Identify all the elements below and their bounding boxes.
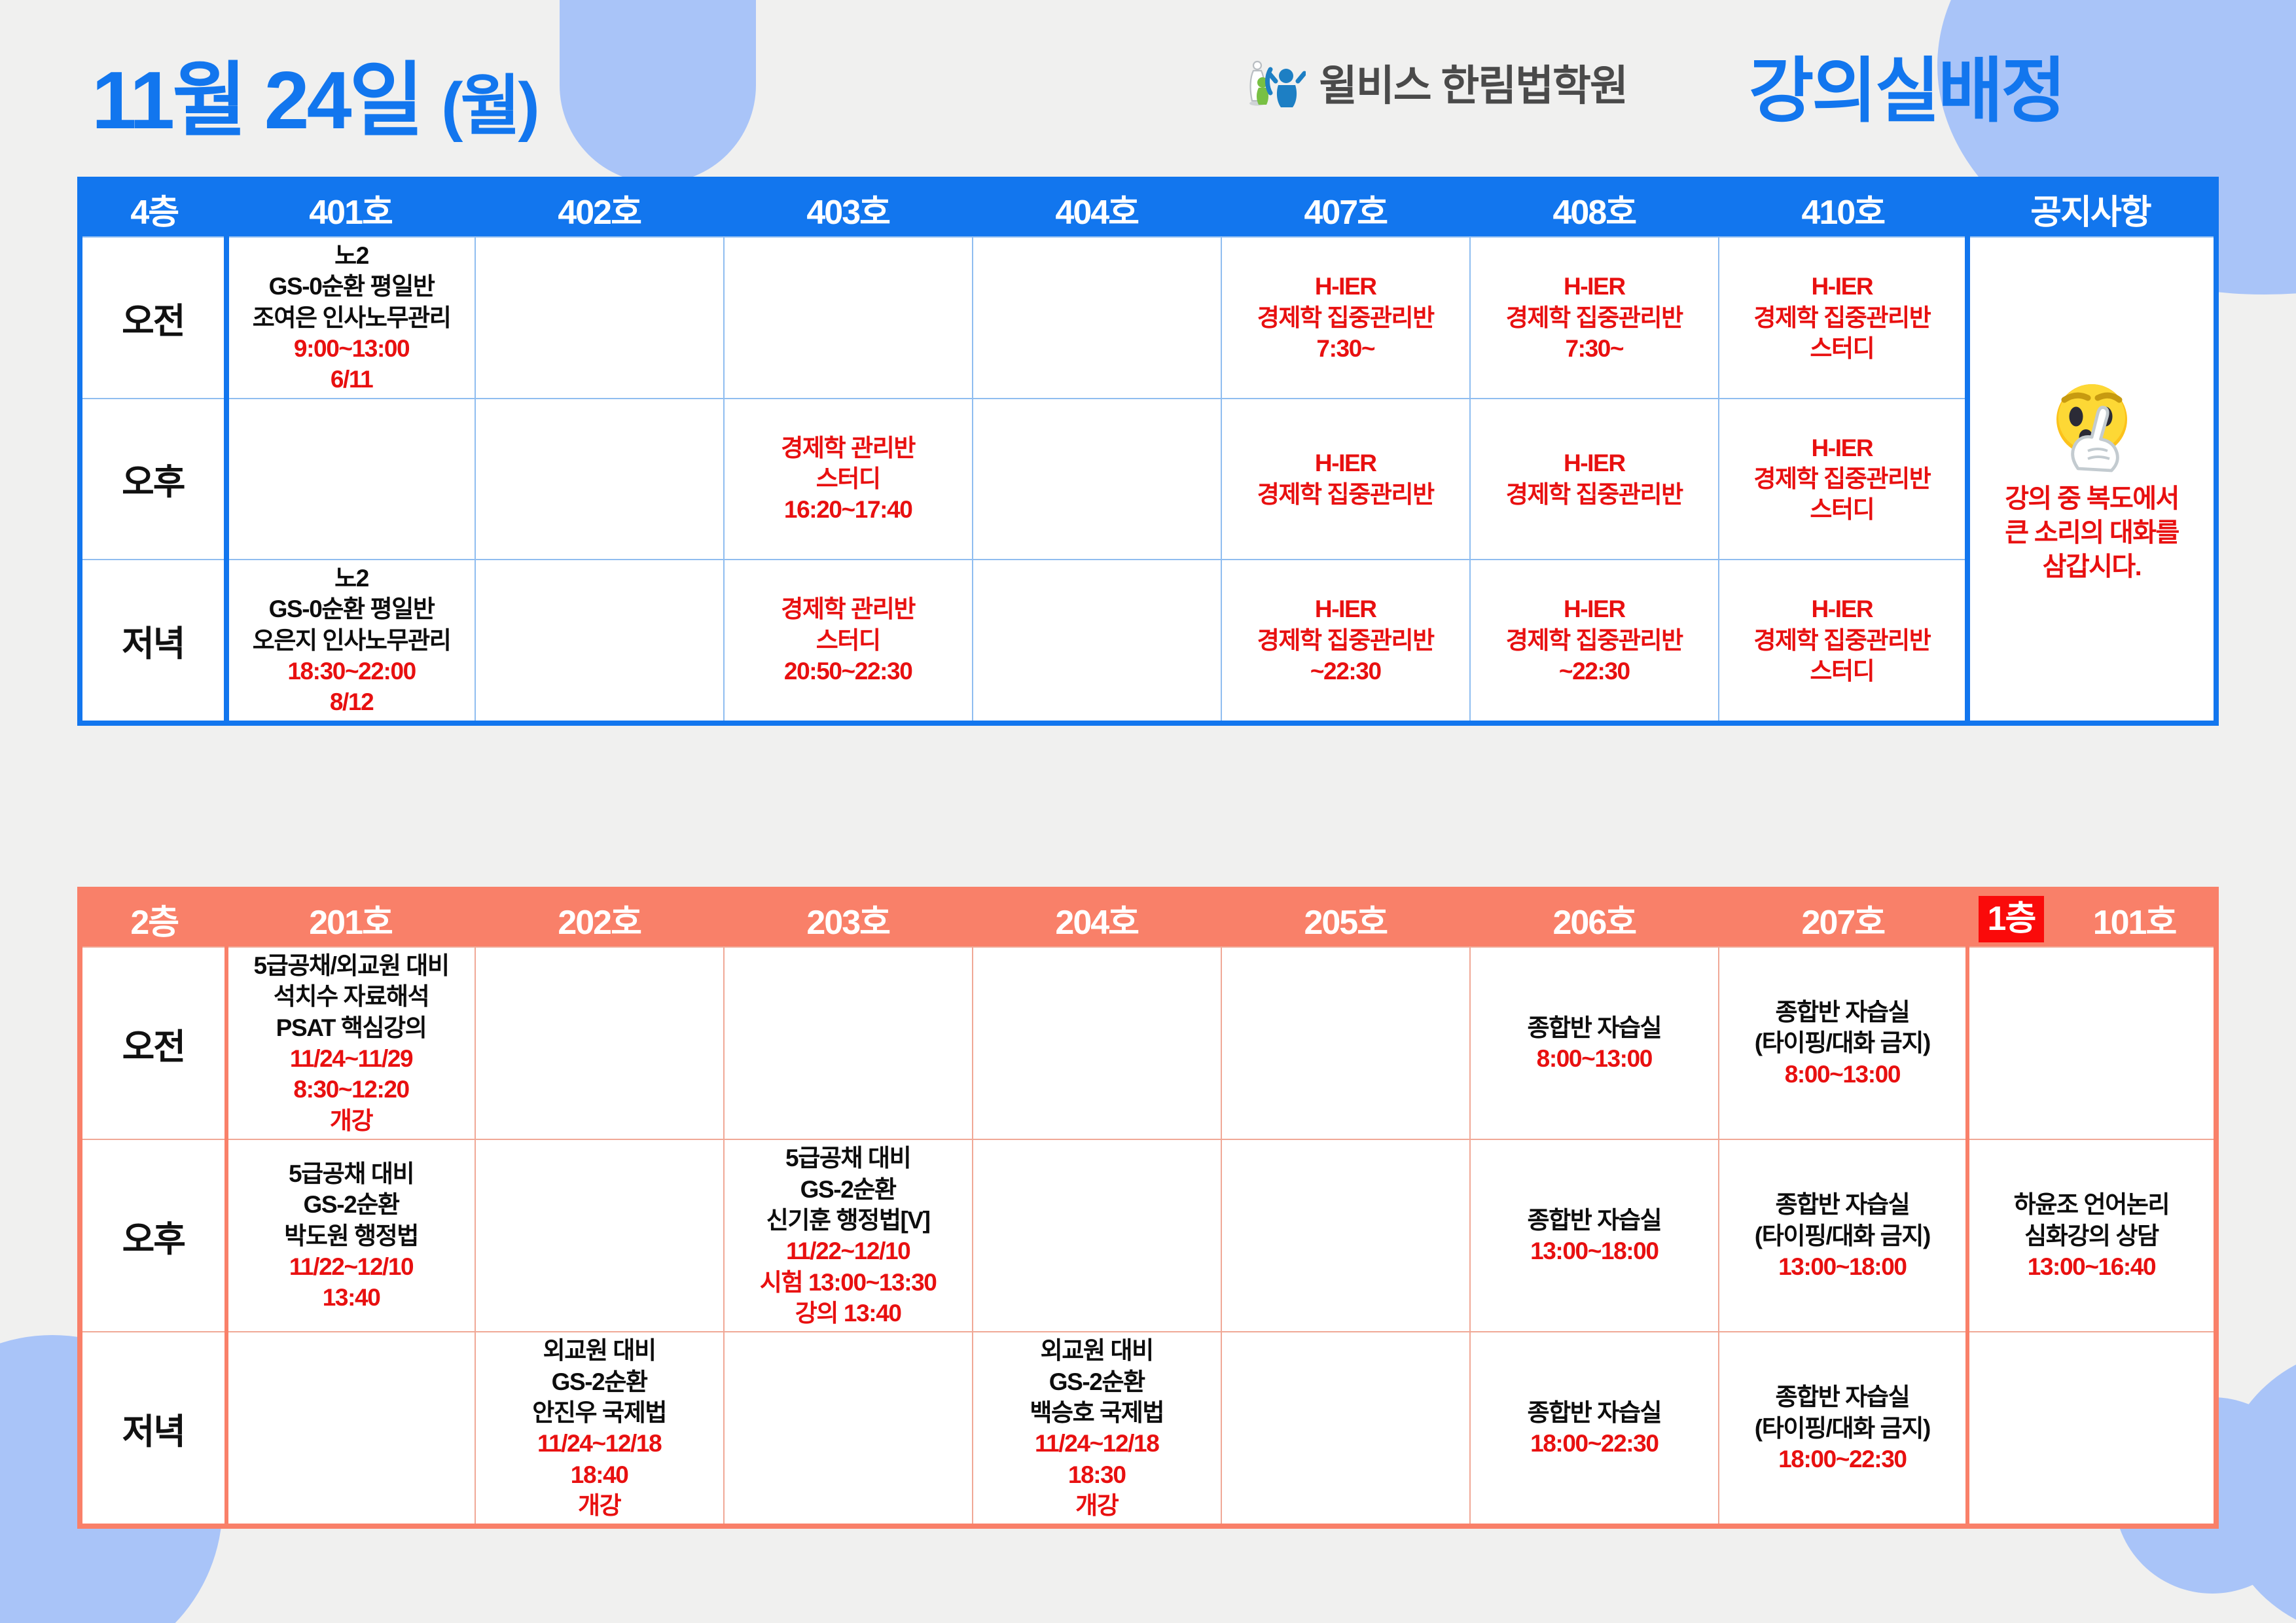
- cell-line: 13:00~18:00: [1475, 1236, 1714, 1266]
- header-room-404: 404호: [973, 179, 1221, 237]
- cell-content: 종합반 자습실13:00~18:00: [1475, 1205, 1714, 1267]
- cell-content: H-IER경제학 집중관리반7:30~: [1226, 271, 1465, 364]
- page-title: 강의실배정: [1749, 34, 2064, 136]
- schedule-table-4f: 4층 401호 402호 403호 404호 407호 408호 410호 공지…: [77, 177, 2219, 726]
- date-title: 11월 24일 (월): [92, 34, 537, 152]
- header-room-202: 202호: [475, 889, 724, 947]
- cell-line: 노2: [233, 240, 471, 271]
- cell-line: 13:40: [232, 1282, 471, 1313]
- cell-content: H-IER경제학 집중관리반: [1226, 448, 1465, 510]
- cell-line: H-IER: [1475, 448, 1714, 478]
- cell-line: H-IER: [1475, 594, 1714, 624]
- cell-4f-401-저녁[interactable]: 노2GS-0순환 평일반오은지 인사노무관리18:30~22:008/12: [226, 560, 475, 723]
- cell-4f-404-저녁[interactable]: [973, 560, 1221, 723]
- cell-2f-206-저녁[interactable]: 종합반 자습실18:00~22:30: [1470, 1332, 1719, 1526]
- cell-line: 종합반 자습실: [1723, 997, 1962, 1027]
- cell-line: 경제학 관리반: [728, 433, 968, 463]
- cell-2f-207-오전[interactable]: 종합반 자습실(타이핑/대화 금지)8:00~13:00: [1719, 947, 1967, 1139]
- cell-line: GS-2순환: [728, 1174, 968, 1205]
- cell-content: H-IER경제학 집중관리반~22:30: [1226, 594, 1465, 687]
- table-4f-header-row: 4층 401호 402호 403호 404호 407호 408호 410호 공지…: [80, 179, 2216, 237]
- cell-line: H-IER: [1723, 271, 1961, 302]
- cell-line: 6/11: [233, 364, 471, 395]
- header-floor-4f: 4층: [80, 179, 226, 237]
- cell-line: 5급공채 대비: [232, 1158, 471, 1189]
- cell-2f-207-저녁[interactable]: 종합반 자습실(타이핑/대화 금지)18:00~22:30: [1719, 1332, 1967, 1526]
- header-room-410: 410호: [1719, 179, 1967, 237]
- cell-2f-202-오전[interactable]: [475, 947, 724, 1139]
- cell-content: 노2GS-0순환 평일반조여은 인사노무관리9:00~13:006/11: [233, 240, 471, 395]
- cell-2f-201-오전[interactable]: 5급공채/외교원 대비석치수 자료해석PSAT 핵심강의11/24~11/298…: [226, 947, 475, 1139]
- cell-2f-205-저녁[interactable]: [1221, 1332, 1470, 1526]
- cell-line: 조여은 인사노무관리: [233, 302, 471, 333]
- cell-line: 경제학 집중관리반: [1723, 463, 1961, 494]
- cell-line: 외교원 대비: [480, 1335, 719, 1366]
- cell-4f-401-오후[interactable]: [226, 399, 475, 560]
- cell-2f-203-저녁[interactable]: [724, 1332, 973, 1526]
- cell-line: 7:30~: [1475, 333, 1714, 364]
- cell-line: 신기훈 행정법[V]: [728, 1205, 968, 1236]
- cell-line: 종합반 자습실: [1723, 1382, 1962, 1412]
- notice-text: 강의 중 복도에서큰 소리의 대화를삼갑시다.: [2005, 482, 2178, 584]
- cell-content: 노2GS-0순환 평일반오은지 인사노무관리18:30~22:008/12: [233, 563, 471, 718]
- cell-line: 종합반 자습실: [1475, 1012, 1714, 1043]
- cell-1f-101-저녁[interactable]: [1967, 1332, 2216, 1526]
- cell-line: 9:00~13:00: [233, 333, 471, 364]
- cell-line: (타이핑/대화 금지): [1723, 1221, 1962, 1251]
- cell-content: H-IER경제학 집중관리반7:30~: [1475, 271, 1714, 364]
- cell-line: H-IER: [1226, 271, 1465, 302]
- cell-2f-204-오후[interactable]: [973, 1139, 1221, 1332]
- cell-line: 18:40: [480, 1459, 719, 1490]
- cell-line: 경제학 집중관리반: [1475, 479, 1714, 510]
- cell-2f-201-오후[interactable]: 5급공채 대비GS-2순환박도원 행정법11/22~12/1013:40: [226, 1139, 475, 1332]
- willbes-people-logo-icon: [1247, 56, 1306, 109]
- cell-line: H-IER: [1723, 594, 1961, 624]
- header-room-207: 207호: [1719, 889, 1967, 947]
- cell-line: 경제학 집중관리반: [1475, 625, 1714, 656]
- cell-4f-401-오전[interactable]: 노2GS-0순환 평일반조여은 인사노무관리9:00~13:006/11: [226, 237, 475, 399]
- cell-line: 종합반 자습실: [1723, 1189, 1962, 1220]
- cell-line: 오은지 인사노무관리: [233, 625, 471, 656]
- cell-line: 경제학 집중관리반: [1475, 302, 1714, 333]
- header-floor-1f-cell: 1층: [1967, 889, 2055, 947]
- cell-line: 안진우 국제법: [480, 1397, 719, 1428]
- cell-4f-408-저녁[interactable]: H-IER경제학 집중관리반~22:30: [1470, 560, 1719, 723]
- cell-line: 강의 13:40: [728, 1298, 968, 1329]
- cell-line: 18:00~22:30: [1475, 1428, 1714, 1459]
- cell-content: 종합반 자습실(타이핑/대화 금지)13:00~18:00: [1723, 1189, 1962, 1282]
- cell-line: 시험 13:00~13:30: [728, 1267, 968, 1298]
- cell-line: 경제학 집중관리반: [1723, 625, 1961, 656]
- cell-2f-203-오전[interactable]: [724, 947, 973, 1139]
- cell-line: 스터디: [728, 463, 968, 494]
- cell-content: 5급공채/외교원 대비석치수 자료해석PSAT 핵심강의11/24~11/298…: [232, 950, 471, 1136]
- cell-line: 경제학 집중관리반: [1723, 302, 1961, 333]
- cell-line: 스터디: [1723, 656, 1961, 687]
- cell-line: 석치수 자료해석: [232, 981, 471, 1012]
- cell-content: 하윤조 언어논리심화강의 상담13:00~16:40: [1973, 1189, 2210, 1282]
- cell-2f-202-저녁[interactable]: 외교원 대비GS-2순환안진우 국제법11/24~12/1818:40개강: [475, 1332, 724, 1526]
- cell-line: 13:00~16:40: [1973, 1251, 2210, 1282]
- cell-line: 노2: [233, 563, 471, 594]
- table-2f-header-row: 2층 201호 202호 203호 204호 205호 206호 207호 1층…: [80, 889, 2216, 947]
- header-room-403: 403호: [724, 179, 973, 237]
- header-room-401: 401호: [226, 179, 475, 237]
- cell-content: 종합반 자습실(타이핑/대화 금지)8:00~13:00: [1723, 997, 1962, 1090]
- notice-line: 삼갑시다.: [2005, 550, 2178, 584]
- cell-content: H-IER경제학 집중관리반~22:30: [1475, 594, 1714, 687]
- brand-name: 윌비스 한림법학원: [1319, 52, 1627, 113]
- floor-1f-badge: 1층: [1979, 896, 2045, 943]
- cell-content: 외교원 대비GS-2순환안진우 국제법11/24~12/1818:40개강: [480, 1335, 719, 1521]
- cell-4f-410-오후[interactable]: H-IER경제학 집중관리반스터디: [1719, 399, 1967, 560]
- cell-line: 11/22~12/10: [728, 1236, 968, 1266]
- cell-line: 경제학 집중관리반: [1226, 625, 1465, 656]
- header-room-204: 204호: [973, 889, 1221, 947]
- header-room-205: 205호: [1221, 889, 1470, 947]
- cell-4f-402-저녁[interactable]: [475, 560, 724, 723]
- cell-line: 11/24~11/29: [232, 1043, 471, 1074]
- cell-4f-403-오전[interactable]: [724, 237, 973, 399]
- cell-content: H-IER경제학 집중관리반스터디: [1723, 594, 1961, 687]
- cell-line: 20:50~22:30: [728, 656, 968, 687]
- cell-4f-408-오전[interactable]: H-IER경제학 집중관리반7:30~: [1470, 237, 1719, 399]
- cell-line: GS-0순환 평일반: [233, 271, 471, 302]
- table-4f-row: 저녁노2GS-0순환 평일반오은지 인사노무관리18:30~22:008/12경…: [80, 560, 2216, 723]
- notice-line: 강의 중 복도에서: [2005, 482, 2178, 516]
- header-room-203: 203호: [724, 889, 973, 947]
- cell-content: 5급공채 대비GS-2순환신기훈 행정법[V]11/22~12/10시험 13:…: [728, 1143, 968, 1329]
- cell-line: 5급공채 대비: [728, 1143, 968, 1173]
- cell-line: (타이핑/대화 금지): [1723, 1027, 1962, 1058]
- cell-line: 5급공채/외교원 대비: [232, 950, 471, 981]
- cell-line: 외교원 대비: [977, 1335, 1217, 1366]
- cell-4f-404-오전[interactable]: [973, 237, 1221, 399]
- cell-4f-403-저녁[interactable]: 경제학 관리반스터디20:50~22:30: [724, 560, 973, 723]
- cell-content: 경제학 관리반스터디16:20~17:40: [728, 433, 968, 526]
- cell-2f-204-저녁[interactable]: 외교원 대비GS-2순환백승호 국제법11/24~12/1818:30개강: [973, 1332, 1221, 1526]
- cell-line: 박도원 행정법: [232, 1221, 471, 1251]
- time-label-오후: 오후: [80, 1139, 226, 1332]
- cell-2f-203-오후[interactable]: 5급공채 대비GS-2순환신기훈 행정법[V]11/22~12/10시험 13:…: [724, 1139, 973, 1332]
- time-label-오후: 오후: [80, 399, 226, 560]
- cell-line: ~22:30: [1226, 656, 1465, 687]
- cell-content: H-IER경제학 집중관리반스터디: [1723, 433, 1961, 526]
- cell-1f-101-오전[interactable]: [1967, 947, 2216, 1139]
- header-room-201: 201호: [226, 889, 475, 947]
- cell-2f-206-오후[interactable]: 종합반 자습실13:00~18:00: [1470, 1139, 1719, 1332]
- cell-line: 개강: [977, 1490, 1217, 1521]
- cell-2f-202-오후[interactable]: [475, 1139, 724, 1332]
- header-room-206: 206호: [1470, 889, 1719, 947]
- cell-line: 스터디: [1723, 333, 1961, 364]
- time-label-오전: 오전: [80, 947, 226, 1139]
- header-room-101: 101호: [2055, 889, 2216, 947]
- cell-line: 16:20~17:40: [728, 494, 968, 525]
- time-label-오전: 오전: [80, 237, 226, 399]
- cell-4f-410-저녁[interactable]: H-IER경제학 집중관리반스터디: [1719, 560, 1967, 723]
- cell-line: 13:00~18:00: [1723, 1251, 1962, 1282]
- schedule-poster: 11월 24일 (월) 윌비스 한림법학원 강의실배정: [0, 0, 2296, 1623]
- time-label-저녁: 저녁: [80, 560, 226, 723]
- header-room-408: 408호: [1470, 179, 1719, 237]
- cell-line: 개강: [480, 1490, 719, 1521]
- date-text: 11월 24일: [92, 56, 422, 146]
- cell-4f-407-오후[interactable]: H-IER경제학 집중관리반: [1221, 399, 1470, 560]
- cell-1f-101-오후[interactable]: 하윤조 언어논리심화강의 상담13:00~16:40: [1967, 1139, 2216, 1332]
- cell-line: 8:00~13:00: [1723, 1059, 1962, 1090]
- cell-line: 11/24~12/18: [480, 1428, 719, 1459]
- cell-2f-205-오전[interactable]: [1221, 947, 1470, 1139]
- cell-line: 11/22~12/10: [232, 1251, 471, 1282]
- cell-line: 8/12: [233, 687, 471, 717]
- poster-header: 11월 24일 (월) 윌비스 한림법학원 강의실배정: [0, 0, 2296, 164]
- cell-line: 경제학 집중관리반: [1226, 479, 1465, 510]
- time-label-저녁: 저녁: [80, 1332, 226, 1526]
- cell-4f-402-오전[interactable]: [475, 237, 724, 399]
- cell-line: 경제학 집중관리반: [1226, 302, 1465, 333]
- cell-4f-408-오후[interactable]: H-IER경제학 집중관리반: [1470, 399, 1719, 560]
- cell-content: 경제학 관리반스터디20:50~22:30: [728, 594, 968, 687]
- cell-2f-201-저녁[interactable]: [226, 1332, 475, 1526]
- cell-line: GS-2순환: [977, 1366, 1217, 1397]
- cell-2f-206-오전[interactable]: 종합반 자습실8:00~13:00: [1470, 947, 1719, 1139]
- shushing-face-emoji: [2043, 374, 2141, 473]
- header-room-402: 402호: [475, 179, 724, 237]
- cell-content: 외교원 대비GS-2순환백승호 국제법11/24~12/1818:30개강: [977, 1335, 1217, 1521]
- cell-line: H-IER: [1723, 433, 1961, 463]
- cell-line: 8:00~13:00: [1475, 1043, 1714, 1074]
- cell-line: ~22:30: [1475, 656, 1714, 687]
- cell-4f-407-오전[interactable]: H-IER경제학 집중관리반7:30~: [1221, 237, 1470, 399]
- header-floor-2f: 2층: [80, 889, 226, 947]
- day-of-week: (월): [441, 69, 537, 143]
- cell-line: H-IER: [1226, 448, 1465, 478]
- cell-line: 7:30~: [1226, 333, 1465, 364]
- cell-2f-207-오후[interactable]: 종합반 자습실(타이핑/대화 금지)13:00~18:00: [1719, 1139, 1967, 1332]
- cell-line: 18:30: [977, 1459, 1217, 1490]
- cell-4f-410-오전[interactable]: H-IER경제학 집중관리반스터디: [1719, 237, 1967, 399]
- header-room-407: 407호: [1221, 179, 1470, 237]
- cell-line: 종합반 자습실: [1475, 1205, 1714, 1236]
- cell-line: 8:30~12:20: [232, 1074, 471, 1105]
- cell-line: 스터디: [1723, 494, 1961, 525]
- cell-4f-404-오후[interactable]: [973, 399, 1221, 560]
- cell-content: 5급공채 대비GS-2순환박도원 행정법11/22~12/1013:40: [232, 1158, 471, 1313]
- cell-line: PSAT 핵심강의: [232, 1012, 471, 1043]
- brand-block: 윌비스 한림법학원: [1247, 52, 1627, 113]
- cell-line: 개강: [232, 1105, 471, 1136]
- cell-line: H-IER: [1226, 594, 1465, 624]
- schedule-table-2f: 2층 201호 202호 203호 204호 205호 206호 207호 1층…: [77, 887, 2219, 1529]
- notice-line: 큰 소리의 대화를: [2005, 516, 2178, 550]
- cell-line: 하윤조 언어논리: [1973, 1189, 2210, 1220]
- cell-line: 경제학 관리반: [728, 594, 968, 624]
- cell-content: 종합반 자습실(타이핑/대화 금지)18:00~22:30: [1723, 1382, 1962, 1474]
- cell-line: 심화강의 상담: [1973, 1221, 2210, 1251]
- cell-line: 종합반 자습실: [1475, 1397, 1714, 1428]
- notice-cell: 강의 중 복도에서큰 소리의 대화를삼갑시다.: [1967, 237, 2216, 723]
- cell-line: 18:30~22:00: [233, 656, 471, 687]
- cell-line: H-IER: [1475, 271, 1714, 302]
- cell-line: 18:00~22:30: [1723, 1444, 1962, 1474]
- cell-4f-403-오후[interactable]: 경제학 관리반스터디16:20~17:40: [724, 399, 973, 560]
- cell-content: H-IER경제학 집중관리반: [1475, 448, 1714, 510]
- cell-content: 종합반 자습실8:00~13:00: [1475, 1012, 1714, 1075]
- cell-line: GS-2순환: [480, 1366, 719, 1397]
- cell-line: (타이핑/대화 금지): [1723, 1413, 1962, 1444]
- cell-line: 백승호 국제법: [977, 1397, 1217, 1428]
- table-2f-row: 오후5급공채 대비GS-2순환박도원 행정법11/22~12/1013:405급…: [80, 1139, 2216, 1332]
- table-4f-row: 오전노2GS-0순환 평일반조여은 인사노무관리9:00~13:006/11H-…: [80, 237, 2216, 399]
- cell-2f-205-오후[interactable]: [1221, 1139, 1470, 1332]
- cell-line: 11/24~12/18: [977, 1428, 1217, 1459]
- table-2f-row: 저녁외교원 대비GS-2순환안진우 국제법11/24~12/1818:40개강외…: [80, 1332, 2216, 1526]
- header-notice: 공지사항: [1967, 179, 2216, 237]
- cell-line: 스터디: [728, 625, 968, 656]
- table-2f-row: 오전5급공채/외교원 대비석치수 자료해석PSAT 핵심강의11/24~11/2…: [80, 947, 2216, 1139]
- cell-line: GS-2순환: [232, 1189, 471, 1220]
- cell-4f-407-저녁[interactable]: H-IER경제학 집중관리반~22:30: [1221, 560, 1470, 723]
- cell-2f-204-오전[interactable]: [973, 947, 1221, 1139]
- cell-4f-402-오후[interactable]: [475, 399, 724, 560]
- cell-content: H-IER경제학 집중관리반스터디: [1723, 271, 1961, 364]
- table-4f-row: 오후경제학 관리반스터디16:20~17:40H-IER경제학 집중관리반H-I…: [80, 399, 2216, 560]
- cell-content: 종합반 자습실18:00~22:30: [1475, 1397, 1714, 1459]
- cell-line: GS-0순환 평일반: [233, 594, 471, 624]
